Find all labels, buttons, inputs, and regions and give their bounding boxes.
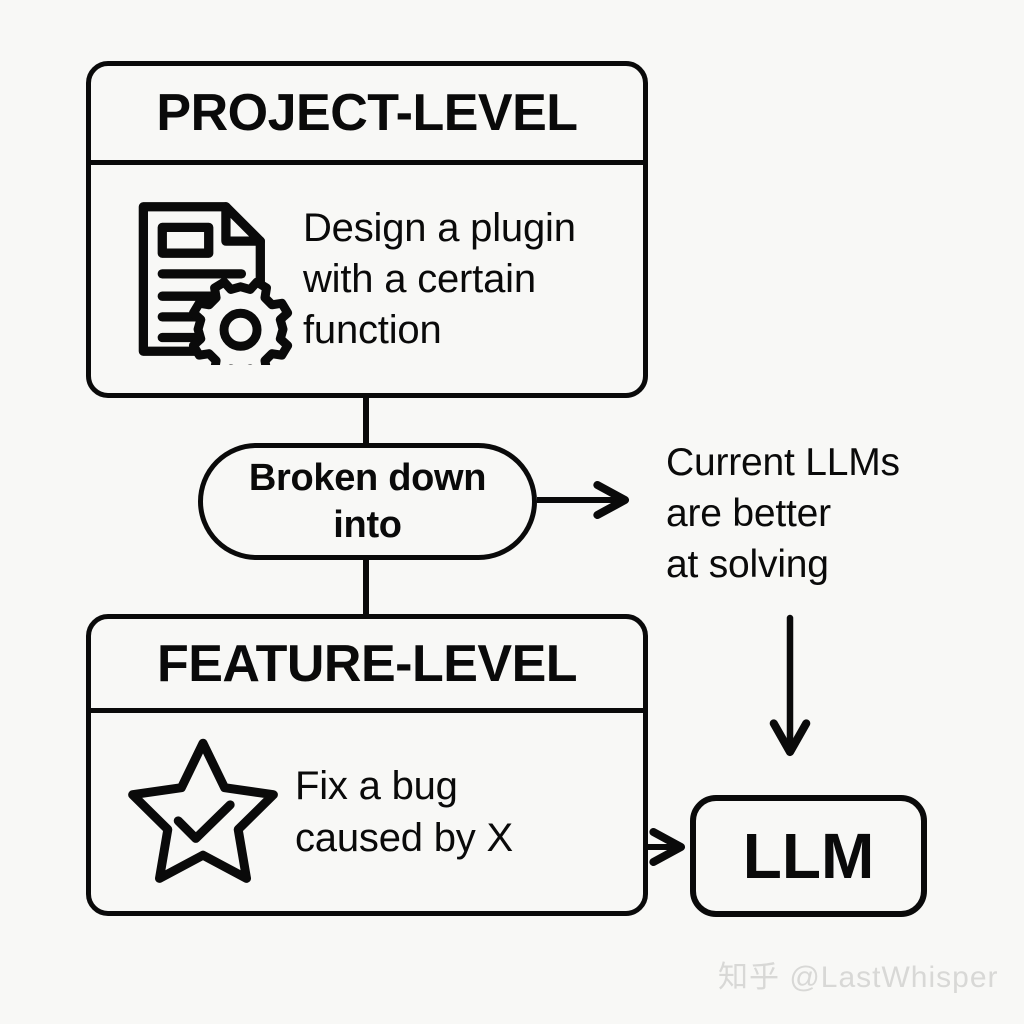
side-note-line-2: are better (666, 488, 900, 539)
project-level-description: Design a plugin with a certain function (303, 203, 576, 356)
feature-level-line-2: caused by X (295, 812, 513, 864)
project-level-header: PROJECT-LEVEL (91, 66, 643, 165)
broken-down-into-label: Broken down into (249, 455, 486, 549)
diagram-canvas: PROJECT-LEVEL (0, 0, 1024, 1024)
llm-label: LLM (743, 819, 875, 893)
watermark: 知乎 @LastWhisper (718, 952, 999, 996)
current-llms-note: Current LLMs are better at solving (666, 437, 900, 590)
project-level-line-1: Design a plugin (303, 203, 576, 254)
llm-box: LLM (690, 795, 927, 917)
feature-level-description: Fix a bug caused by X (295, 760, 513, 864)
pill-line-2: into (249, 502, 486, 549)
project-level-line-2: with a certain (303, 254, 576, 305)
project-level-body: Design a plugin with a certain function (91, 165, 643, 393)
project-level-line-3: function (303, 305, 576, 356)
feature-level-header: FEATURE-LEVEL (91, 619, 643, 713)
side-note-line-3: at solving (666, 539, 900, 590)
broken-down-into-pill: Broken down into (198, 443, 537, 560)
feature-level-line-1: Fix a bug (295, 760, 513, 812)
side-note-line-1: Current LLMs (666, 437, 900, 488)
pill-line-1: Broken down (249, 455, 486, 502)
feature-level-title: FEATURE-LEVEL (157, 634, 577, 694)
feature-level-card: FEATURE-LEVEL Fix a bug caused by X (86, 614, 648, 916)
project-level-title: PROJECT-LEVEL (156, 83, 577, 143)
feature-level-body: Fix a bug caused by X (91, 713, 643, 911)
project-level-card: PROJECT-LEVEL (86, 61, 648, 398)
document-gear-icon (121, 193, 293, 365)
star-check-icon (123, 732, 283, 892)
